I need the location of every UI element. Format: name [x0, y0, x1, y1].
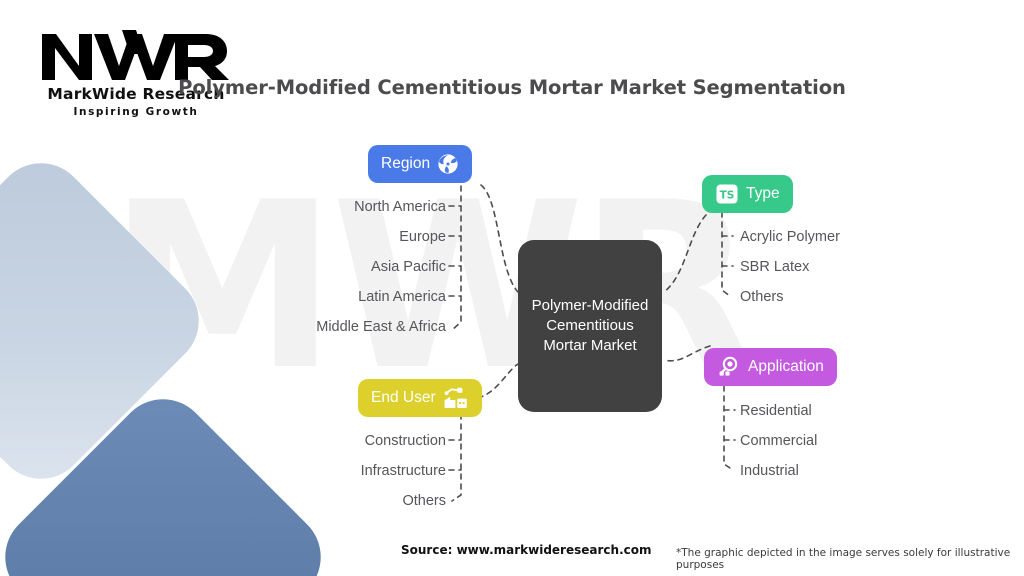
list-item: Latin America [316, 282, 446, 312]
factory-robot-icon [443, 386, 469, 410]
list-type: Acrylic Polymer SBR Latex Others [740, 222, 840, 312]
list-item: Others [361, 486, 446, 516]
badge-region-label: Region [381, 155, 430, 173]
list-item: Infrastructure [361, 456, 446, 486]
list-item: North America [316, 192, 446, 222]
magnifier-grid-icon [717, 355, 741, 379]
list-item: Asia Pacific [316, 252, 446, 282]
list-item: SBR Latex [740, 252, 840, 282]
list-item: Industrial [740, 456, 817, 486]
source-text: Source: www.markwideresearch.com [401, 543, 651, 557]
list-item: Construction [361, 426, 446, 456]
page-title: Polymer-Modified Cementitious Mortar Mar… [0, 76, 1024, 99]
disclaimer-text: *The graphic depicted in the image serve… [676, 547, 1024, 571]
center-node: Polymer-Modified Cementitious Mortar Mar… [518, 240, 662, 412]
badge-enduser[interactable]: End User [358, 379, 482, 417]
center-node-label: Polymer-Modified Cementitious Mortar Mar… [518, 296, 662, 356]
badge-region[interactable]: Region [368, 145, 472, 183]
brand-tagline: Inspiring Growth [36, 106, 236, 118]
brand-logo: MarkWide Research Inspiring Growth [36, 28, 236, 118]
list-application: Residential Commercial Industrial [740, 396, 817, 486]
badge-type-label: Type [746, 185, 780, 203]
list-item: Acrylic Polymer [740, 222, 840, 252]
list-item: Middle East & Africa [316, 312, 446, 342]
ts-tag-icon: TS [715, 182, 739, 206]
badge-enduser-label: End User [371, 389, 436, 407]
list-item: Europe [316, 222, 446, 252]
list-enduser: Construction Infrastructure Others [361, 426, 446, 516]
list-item: Residential [740, 396, 817, 426]
badge-application[interactable]: Application [704, 348, 837, 386]
list-region: North America Europe Asia Pacific Latin … [316, 192, 446, 342]
badge-type[interactable]: TS Type [702, 175, 793, 213]
globe-icon [437, 153, 459, 175]
badge-application-label: Application [748, 358, 824, 376]
list-item: Others [740, 282, 840, 312]
svg-text:TS: TS [720, 189, 735, 201]
list-item: Commercial [740, 426, 817, 456]
